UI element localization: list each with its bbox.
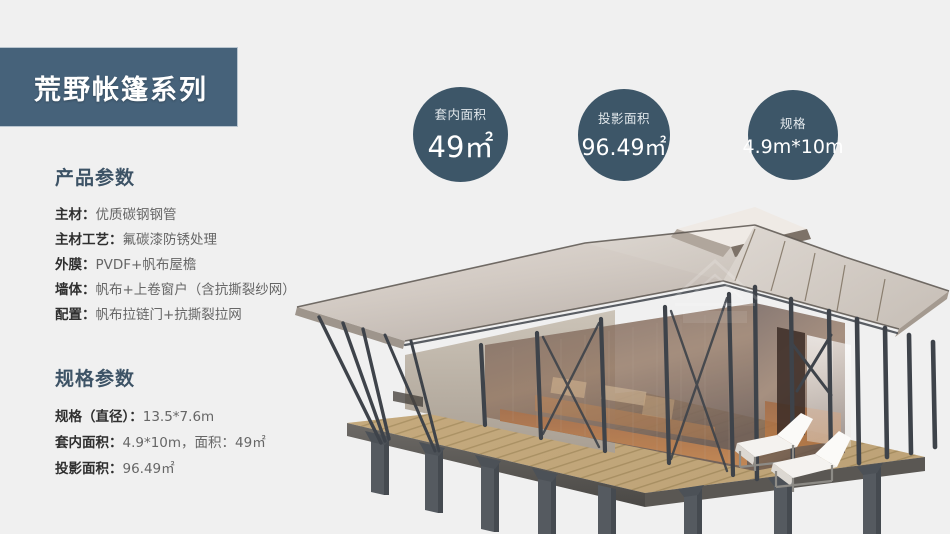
spec-value: 96.49㎡ <box>123 461 175 477</box>
spec-key: 投影面积： <box>55 461 123 477</box>
stat-badge-interior-area: 套内面积 49㎡ <box>413 87 508 182</box>
spec-value: 4.9*10m，面积：49㎡ <box>123 435 266 451</box>
page-title: 荒野帐篷系列 <box>34 68 208 107</box>
stat-badge-value: 4.9m*10m <box>743 136 844 158</box>
spec-key: 主材工艺： <box>55 232 123 248</box>
stat-badge-label: 规格 <box>780 113 806 132</box>
spec-key: 配置： <box>55 307 96 323</box>
product-params-heading: 产品参数 <box>55 163 355 190</box>
spec-value: 优质碳钢钢管 <box>96 207 177 223</box>
stat-badge-label: 套内面积 <box>434 104 486 123</box>
slide-canvas: 荒野帐篷系列 产品参数 主材：优质碳钢钢管 主材工艺：氟碳漆防锈处理 外膜：PV… <box>0 0 950 534</box>
safari-tent-3d-render <box>285 195 950 534</box>
spec-key: 外膜： <box>55 257 96 273</box>
spec-value: 氟碳漆防锈处理 <box>123 232 218 248</box>
stat-badge-dimensions: 规格 4.9m*10m <box>748 90 838 180</box>
stat-badge-value: 49㎡ <box>428 124 494 166</box>
spec-key: 墙体： <box>55 282 96 298</box>
spec-key: 规格（直径）： <box>55 409 143 425</box>
spec-value: 13.5*7.6m <box>143 409 214 425</box>
stat-badge-label: 投影面积 <box>598 108 650 127</box>
spec-key: 套内面积： <box>55 435 123 451</box>
spec-value: 帆布拉链门+抗撕裂拉网 <box>96 307 242 323</box>
stat-badge-projected-area: 投影面积 96.49㎡ <box>578 89 670 181</box>
title-banner: 荒野帐篷系列 <box>0 47 238 127</box>
stat-badge-value: 96.49㎡ <box>582 130 667 162</box>
spec-value: PVDF+帆布屋檐 <box>96 257 197 273</box>
spec-key: 主材： <box>55 207 96 223</box>
spec-value: 帆布+上卷窗户（含抗撕裂纱网） <box>96 282 296 298</box>
